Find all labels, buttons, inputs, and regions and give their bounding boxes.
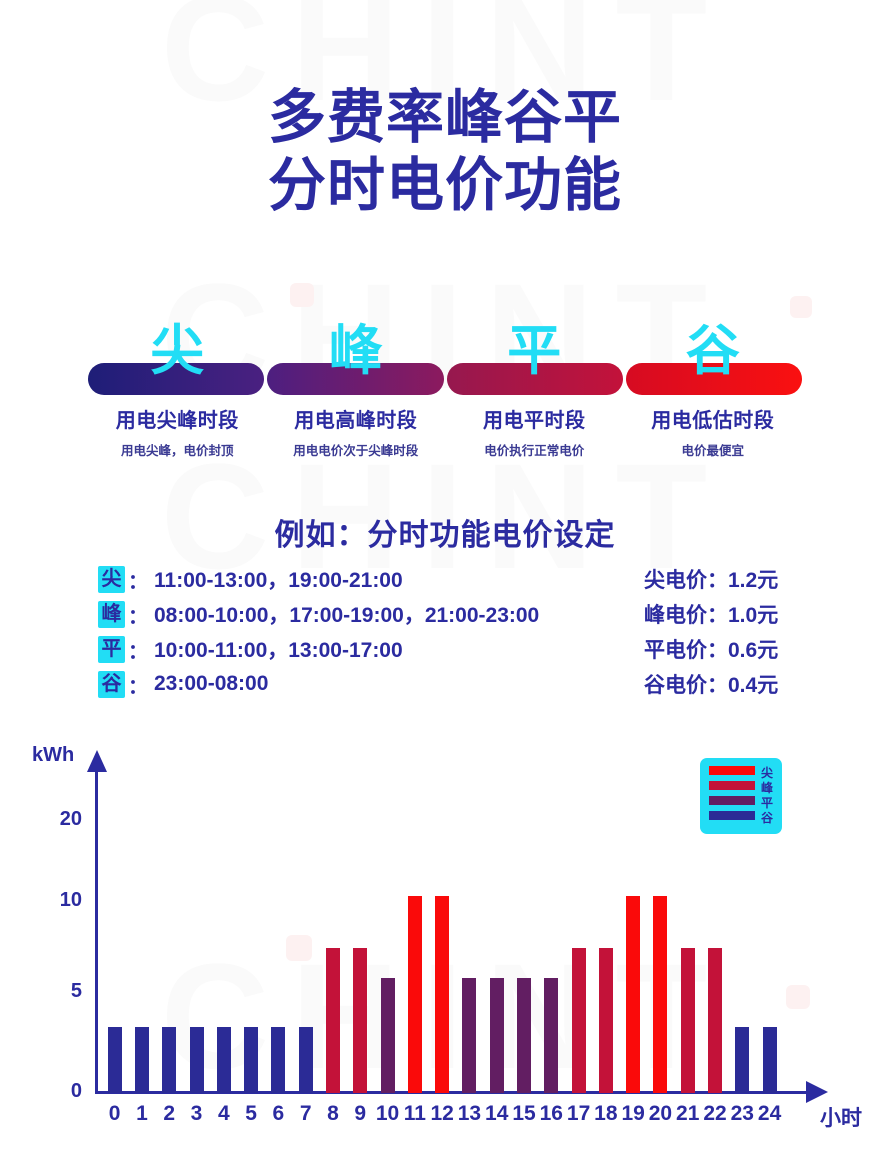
bar-hour-20 bbox=[653, 896, 667, 1093]
period-caption-main: 用电尖峰时段 bbox=[88, 404, 266, 433]
bar-hour-24 bbox=[763, 1027, 777, 1093]
rate-tag-谷: 谷 bbox=[98, 671, 125, 698]
rate-times: 10:00-11:00，13:00-17:00 bbox=[154, 634, 403, 664]
legend-swatches bbox=[709, 766, 755, 820]
y-tick-5: 5 bbox=[40, 980, 82, 1003]
bar-hour-23 bbox=[735, 1027, 749, 1093]
bar-hour-16 bbox=[544, 978, 558, 1093]
bar-hour-9 bbox=[353, 948, 367, 1094]
bar-hour-3 bbox=[190, 1027, 204, 1093]
period-char-峰: 峰 bbox=[296, 322, 416, 380]
rate-tag-平: 平 bbox=[98, 636, 125, 663]
bar-hour-19 bbox=[626, 896, 640, 1093]
period-char-平: 平 bbox=[474, 322, 594, 380]
period-caption-sub: 用电尖峰，电价封顶 bbox=[88, 440, 266, 459]
legend-swatch-尖 bbox=[709, 766, 755, 775]
bar-hour-8 bbox=[326, 948, 340, 1094]
period-char-谷: 谷 bbox=[653, 322, 773, 380]
period-caption-sub: 用电电价次于尖峰时段 bbox=[267, 440, 445, 459]
period-caption-sub: 电价执行正常电价 bbox=[445, 440, 623, 459]
y-axis-label: kWh bbox=[32, 744, 74, 767]
x-tick-24: 24 bbox=[753, 1102, 787, 1126]
bar-hour-7 bbox=[299, 1027, 313, 1093]
rate-times: 23:00-08:00 bbox=[154, 672, 268, 696]
rate-colon: ： bbox=[125, 670, 154, 699]
title-line-1: 多费率峰谷平 bbox=[0, 84, 890, 152]
bar-hour-14 bbox=[490, 978, 504, 1093]
period-band: 尖峰平谷 用电尖峰时段用电尖峰，电价封顶用电高峰时段用电电价次于尖峰时段用电平时… bbox=[0, 322, 890, 482]
rate-row: 峰：08:00-10:00，17:00-19:00，21:00-23:00峰电价… bbox=[98, 598, 820, 630]
legend-swatch-峰 bbox=[709, 781, 755, 790]
y-tick-0: 0 bbox=[40, 1080, 82, 1103]
title-line-2: 分时电价功能 bbox=[0, 152, 890, 220]
rate-price: 峰电价：1.0元 bbox=[644, 599, 778, 629]
bar-hour-22 bbox=[708, 948, 722, 1094]
period-caption-平: 用电平时段电价执行正常电价 bbox=[445, 404, 623, 459]
bar-hour-12 bbox=[435, 896, 449, 1093]
legend-label-峰: 峰 bbox=[761, 781, 773, 796]
rate-tag-尖: 尖 bbox=[98, 566, 125, 593]
legend-swatch-平 bbox=[709, 796, 755, 805]
rate-list: 尖：11:00-13:00，19:00-21:00尖电价：1.2元峰：08:00… bbox=[98, 563, 820, 703]
bar-hour-10 bbox=[381, 978, 395, 1093]
rate-tag-峰: 峰 bbox=[98, 601, 125, 628]
rate-colon: ： bbox=[125, 565, 154, 594]
legend-label-平: 平 bbox=[761, 796, 773, 811]
y-tick-10: 10 bbox=[40, 889, 82, 912]
y-tick-20: 20 bbox=[40, 808, 82, 831]
watermark-accent bbox=[790, 296, 812, 318]
chart-legend: 尖峰平谷 bbox=[700, 758, 782, 834]
rate-row: 尖：11:00-13:00，19:00-21:00尖电价：1.2元 bbox=[98, 563, 820, 595]
rate-colon: ： bbox=[125, 600, 154, 629]
watermark-accent bbox=[290, 283, 314, 307]
bar-hour-4 bbox=[217, 1027, 231, 1093]
bar-hour-0 bbox=[108, 1027, 122, 1093]
bar-hour-21 bbox=[681, 948, 695, 1094]
x-axis-label: 小时 bbox=[820, 1102, 862, 1132]
bar-hour-2 bbox=[162, 1027, 176, 1093]
period-caption-main: 用电低估时段 bbox=[624, 404, 802, 433]
period-caption-main: 用电高峰时段 bbox=[267, 404, 445, 433]
bar-hour-11 bbox=[408, 896, 422, 1093]
legend-label-尖: 尖 bbox=[761, 766, 773, 781]
poster-root: CHINT CHINT CHINT CHINT 多费率峰谷平 分时电价功能 尖峰… bbox=[0, 0, 890, 1165]
rate-times: 11:00-13:00，19:00-21:00 bbox=[154, 564, 403, 594]
consumption-chart: kWh 051020 01234567891011121314151617181… bbox=[0, 740, 890, 1165]
bar-hour-6 bbox=[271, 1027, 285, 1093]
period-caption-sub: 电价最便宜 bbox=[624, 440, 802, 459]
rate-times: 08:00-10:00，17:00-19:00，21:00-23:00 bbox=[154, 599, 539, 629]
bar-hour-13 bbox=[462, 978, 476, 1093]
legend-label-谷: 谷 bbox=[761, 811, 773, 826]
period-char-尖: 尖 bbox=[117, 322, 237, 380]
bar-hour-18 bbox=[599, 948, 613, 1094]
bar-hour-5 bbox=[244, 1027, 258, 1093]
legend-labels: 尖峰平谷 bbox=[761, 766, 773, 826]
rate-price: 谷电价：0.4元 bbox=[644, 669, 778, 699]
rate-price: 平电价：0.6元 bbox=[644, 634, 778, 664]
rate-price: 尖电价：1.2元 bbox=[644, 564, 778, 594]
bar-hour-17 bbox=[572, 948, 586, 1094]
period-caption-尖: 用电尖峰时段用电尖峰，电价封顶 bbox=[88, 404, 266, 459]
page-title: 多费率峰谷平 分时电价功能 bbox=[0, 84, 890, 220]
bar-hour-1 bbox=[135, 1027, 149, 1093]
bar-hour-15 bbox=[517, 978, 531, 1093]
example-heading: 例如：分时功能电价设定 bbox=[0, 510, 890, 554]
rate-row: 平：10:00-11:00，13:00-17:00平电价：0.6元 bbox=[98, 633, 820, 665]
period-caption-main: 用电平时段 bbox=[445, 404, 623, 433]
legend-swatch-谷 bbox=[709, 811, 755, 820]
rate-row: 谷：23:00-08:00谷电价：0.4元 bbox=[98, 668, 820, 700]
rate-colon: ： bbox=[125, 635, 154, 664]
period-caption-谷: 用电低估时段电价最便宜 bbox=[624, 404, 802, 459]
period-caption-峰: 用电高峰时段用电电价次于尖峰时段 bbox=[267, 404, 445, 459]
